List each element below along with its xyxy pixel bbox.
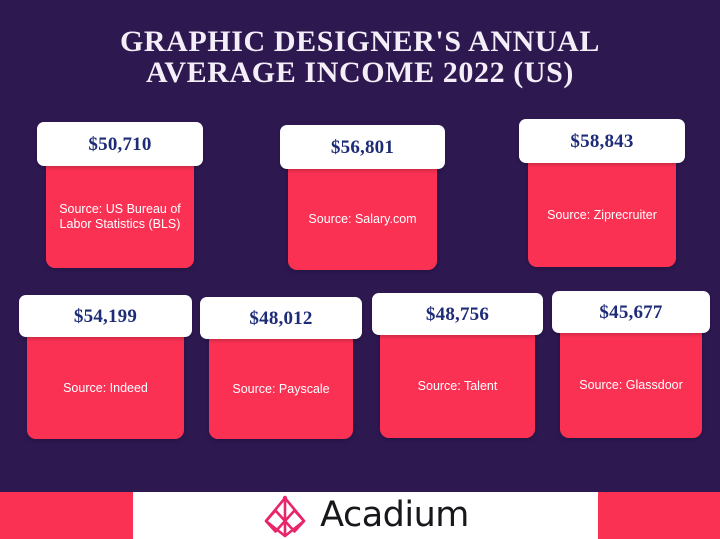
page-title: Graphic Designer's Annual Average Income… bbox=[0, 26, 720, 88]
stat-card-source: Source: Talent bbox=[412, 379, 504, 394]
stat-card-amount-header: $56,801 bbox=[280, 125, 445, 169]
stat-card-source: Source: US Bureau of Labor Statistics (B… bbox=[46, 202, 194, 232]
stat-card-body: Source: US Bureau of Labor Statistics (B… bbox=[46, 166, 194, 268]
stat-card-glassdoor: $45,677 Source: Glassdoor bbox=[552, 291, 710, 438]
stat-card-amount: $58,843 bbox=[570, 132, 633, 151]
stat-card-amount-header: $50,710 bbox=[37, 122, 203, 166]
stat-card-source: Source: Ziprecruiter bbox=[541, 208, 663, 223]
stat-card-source: Source: Indeed bbox=[57, 381, 154, 396]
footer-bar: Acadium bbox=[0, 492, 720, 539]
acadium-logo-apex-dot bbox=[283, 495, 287, 499]
stat-card-source: Source: Glassdoor bbox=[573, 378, 689, 393]
stat-card-body: Source: Talent bbox=[380, 335, 535, 438]
stat-card-indeed: $54,199 Source: Indeed bbox=[19, 295, 192, 439]
stat-card-bls: $50,710 Source: US Bureau of Labor Stati… bbox=[37, 122, 203, 268]
stat-card-body: Source: Indeed bbox=[27, 337, 184, 439]
stat-card-amount: $45,677 bbox=[599, 303, 662, 322]
stat-card-ziprecruiter: $58,843 Source: Ziprecruiter bbox=[519, 119, 685, 267]
stat-card-amount-header: $48,012 bbox=[200, 297, 362, 339]
brand-lockup: Acadium bbox=[133, 492, 598, 539]
page-title-line-1: Graphic Designer's Annual bbox=[0, 26, 720, 57]
stat-card-amount-header: $48,756 bbox=[372, 293, 543, 335]
footer-accent-left bbox=[0, 492, 133, 539]
stat-card-amount: $48,756 bbox=[426, 305, 489, 324]
page-title-line-2: Average Income 2022 (US) bbox=[0, 57, 720, 88]
stat-card-body: Source: Ziprecruiter bbox=[528, 163, 676, 267]
stat-card-source: Source: Payscale bbox=[226, 382, 335, 397]
stat-card-talent: $48,756 Source: Talent bbox=[372, 293, 543, 438]
stat-card-amount: $54,199 bbox=[74, 307, 137, 326]
stat-card-salary-com: $56,801 Source: Salary.com bbox=[280, 125, 445, 270]
stat-card-body: Source: Salary.com bbox=[288, 169, 437, 270]
footer-accent-right bbox=[598, 492, 720, 539]
stat-card-payscale: $48,012 Source: Payscale bbox=[200, 297, 362, 439]
stat-card-body: Source: Payscale bbox=[209, 339, 353, 439]
infographic-canvas: Graphic Designer's Annual Average Income… bbox=[0, 0, 720, 539]
stat-card-amount: $48,012 bbox=[249, 309, 312, 328]
brand-name: Acadium bbox=[320, 498, 469, 533]
stat-card-source: Source: Salary.com bbox=[302, 212, 422, 227]
stat-card-amount-header: $58,843 bbox=[519, 119, 685, 163]
stat-card-amount-header: $45,677 bbox=[552, 291, 710, 333]
acadium-logo-icon bbox=[262, 495, 308, 539]
stat-card-amount: $56,801 bbox=[331, 138, 394, 157]
stat-card-body: Source: Glassdoor bbox=[560, 333, 702, 438]
stat-card-amount-header: $54,199 bbox=[19, 295, 192, 337]
stat-card-amount: $50,710 bbox=[88, 135, 151, 154]
